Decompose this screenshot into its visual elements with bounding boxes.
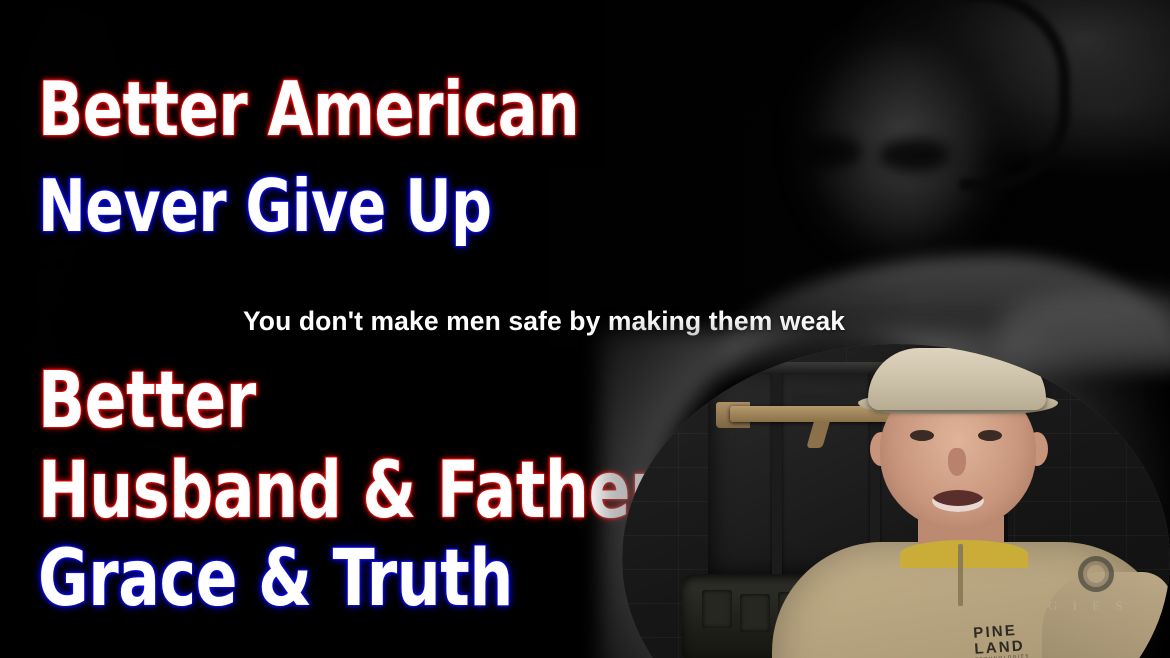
headline-better: Better bbox=[38, 362, 256, 440]
thumbnail-canvas: Better American Never Give Up You don't … bbox=[0, 0, 1170, 658]
inset-subject-collar bbox=[900, 540, 1028, 568]
inset-gear-pouch bbox=[702, 590, 732, 628]
watermark-text: G I E S bbox=[1048, 598, 1129, 614]
headline-never-give-up: Never Give Up bbox=[38, 170, 491, 242]
headline-grace-and-truth: Grace & Truth bbox=[38, 540, 513, 618]
inset-subject-eye-left bbox=[910, 430, 934, 441]
inset-subject-eye-right bbox=[978, 430, 1002, 441]
headline-husband-and-father: Husband & Father bbox=[38, 452, 660, 530]
inset-subject-mouth bbox=[932, 490, 984, 512]
inset-subject-zipper bbox=[958, 544, 963, 606]
headline-better-american: Better American bbox=[38, 72, 579, 147]
inset-panel-strap bbox=[772, 366, 782, 576]
inset-subject-nose bbox=[948, 448, 966, 476]
inset-rifle-optic bbox=[792, 394, 868, 404]
inset-gear-pouch bbox=[740, 594, 770, 632]
caption-text: You don't make men safe by making them w… bbox=[243, 306, 845, 337]
inset-subject-cap bbox=[868, 348, 1046, 410]
watermark-logo-icon bbox=[1078, 556, 1114, 592]
inset-jacket-logo: PINE LAND TECHNOLOGIES bbox=[973, 622, 1030, 658]
